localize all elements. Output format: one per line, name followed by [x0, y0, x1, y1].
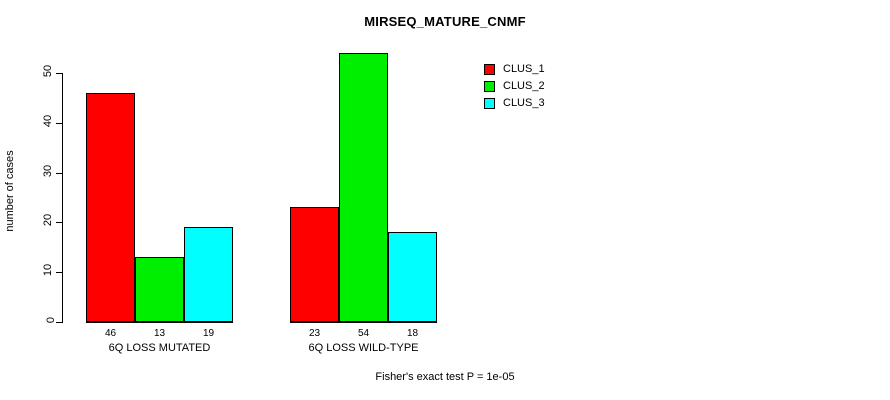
group-label: 6Q LOSS MUTATED: [46, 342, 273, 354]
y-axis-tick-label: 50: [0, 65, 54, 77]
legend-item: CLUS_1: [484, 62, 545, 77]
y-axis-tick-label: 0: [0, 314, 54, 326]
y-axis-tick: [56, 73, 62, 74]
bar-value-label: 54: [339, 328, 388, 339]
y-axis-line: [62, 73, 63, 323]
legend-label: CLUS_1: [503, 64, 545, 75]
legend-label: CLUS_2: [503, 81, 545, 92]
y-axis-tick: [56, 222, 62, 223]
bar-clus_1-group1: [86, 93, 135, 322]
bar-clus_3-group1: [184, 227, 233, 322]
chart-canvas: MIRSEQ_MATURE_CNMF 01020304050 number of…: [0, 0, 890, 400]
y-axis-title: number of cases: [4, 131, 16, 251]
chart-title: MIRSEQ_MATURE_CNMF: [0, 14, 890, 29]
y-axis-tick-label: 40: [0, 115, 54, 127]
bar-value-label: 46: [86, 328, 135, 339]
bar-value-label: 23: [290, 328, 339, 339]
legend-item: CLUS_3: [484, 96, 545, 111]
y-axis-tick: [56, 173, 62, 174]
bar-clus_2-group2: [339, 53, 388, 322]
legend-swatch-icon: [484, 64, 495, 75]
x-axis-line: [290, 322, 437, 323]
bar-value-label: 18: [388, 328, 437, 339]
y-axis-tick: [56, 272, 62, 273]
legend: CLUS_1CLUS_2CLUS_3: [484, 62, 545, 113]
group-label: 6Q LOSS WILD-TYPE: [250, 342, 477, 354]
legend-swatch-icon: [484, 81, 495, 92]
bar-value-label: 19: [184, 328, 233, 339]
bar-clus_2-group1: [135, 257, 184, 322]
legend-swatch-icon: [484, 98, 495, 109]
bar-clus_1-group2: [290, 207, 339, 322]
x-axis-line: [86, 322, 233, 323]
y-axis-tick-label: 10: [0, 264, 54, 276]
chart-footnote: Fisher's exact test P = 1e-05: [0, 371, 890, 383]
bar-clus_3-group2: [388, 232, 437, 322]
y-axis-tick: [56, 123, 62, 124]
legend-item: CLUS_2: [484, 79, 545, 94]
bar-value-label: 13: [135, 328, 184, 339]
legend-label: CLUS_3: [503, 98, 545, 109]
